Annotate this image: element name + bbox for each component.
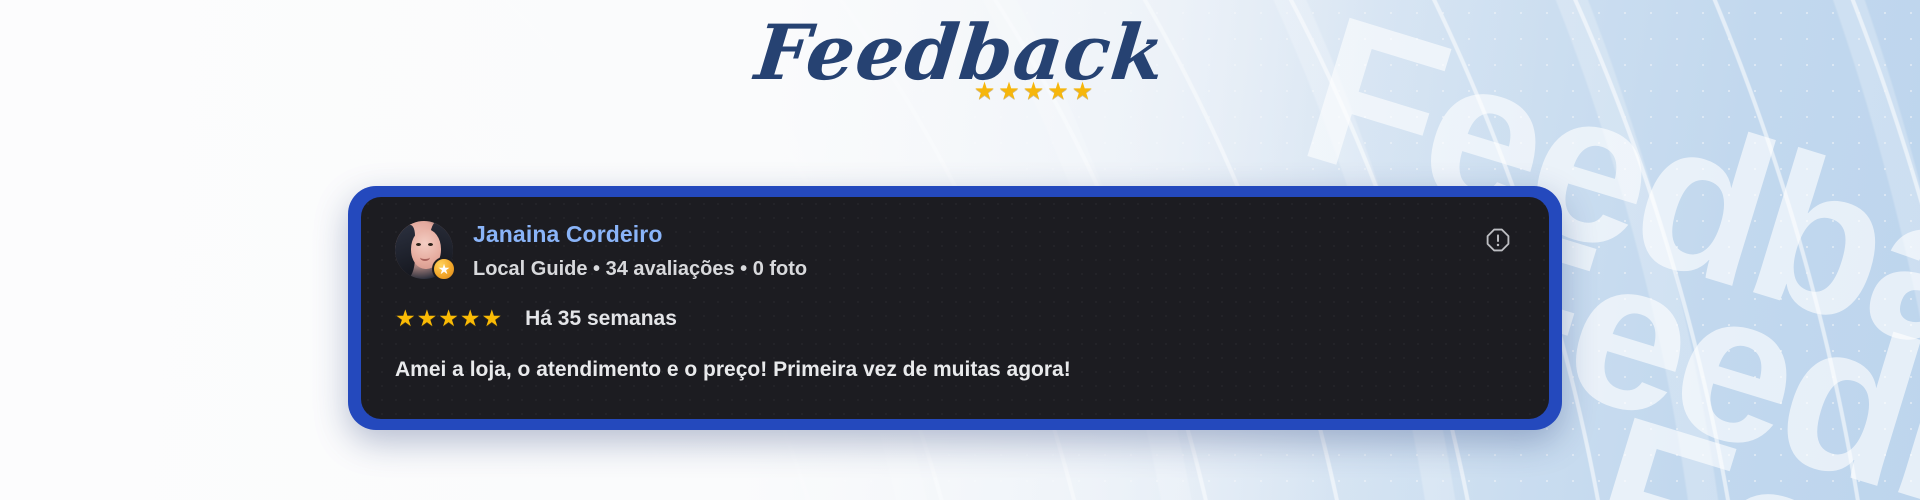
review-header: ★ Janaina Cordeiro Local Guide • 34 aval… (395, 219, 1515, 281)
banner-header: Feedback ★★★★★ (0, 14, 1920, 104)
reviewer-meta-line: Local Guide • 34 avaliações • 0 foto (473, 257, 1461, 281)
report-icon (1485, 227, 1511, 253)
avatar-smile (420, 254, 430, 261)
reviewer-name-link[interactable]: Janaina Cordeiro (473, 221, 1461, 249)
avatar-eye-left (416, 243, 421, 246)
feedback-banner: Feedback Feedback Feedback Feedback ★★★★… (0, 0, 1920, 500)
review-timestamp: Há 35 semanas (525, 308, 677, 329)
report-button[interactable] (1481, 223, 1515, 257)
reviewer-meta-column: Janaina Cordeiro Local Guide • 34 avalia… (473, 219, 1461, 281)
avatar-eye-right (428, 243, 433, 246)
review-card-body: ★ Janaina Cordeiro Local Guide • 34 aval… (361, 197, 1549, 419)
review-star-rating: ★★★★★ (395, 307, 503, 330)
review-card: ★ Janaina Cordeiro Local Guide • 34 aval… (348, 186, 1562, 430)
review-text: Amei a loja, o atendimento e o preço! Pr… (395, 356, 1515, 383)
avatar: ★ (395, 221, 453, 279)
local-guide-badge-icon: ★ (432, 257, 456, 281)
rating-row: ★★★★★ Há 35 semanas (395, 307, 1515, 330)
page-title: Feedback (751, 14, 1168, 92)
